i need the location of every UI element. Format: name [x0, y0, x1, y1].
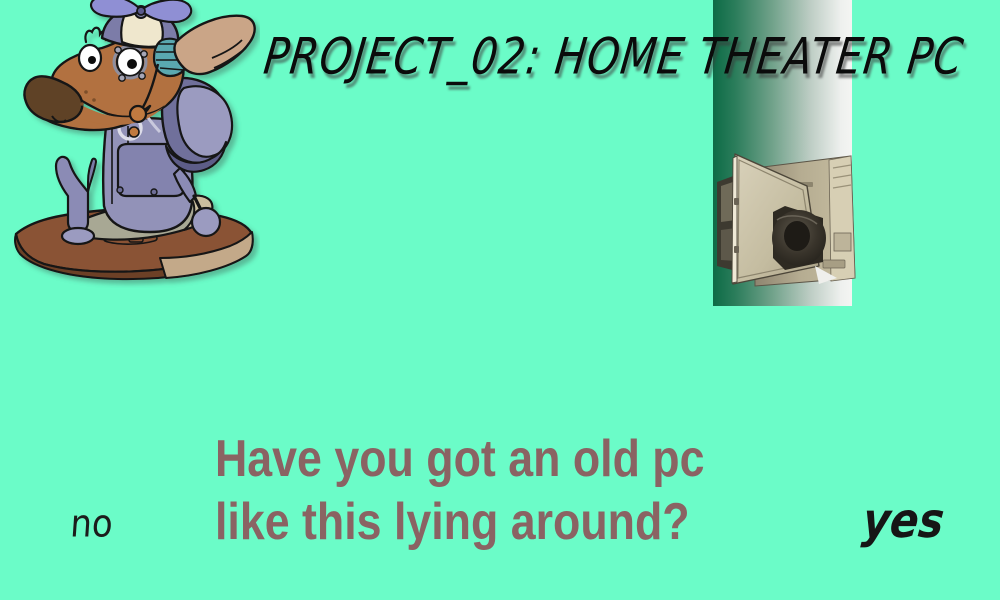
- pc-floppy-bay: [834, 233, 851, 251]
- mascot-monocle-screw-1: [115, 47, 121, 53]
- mascot-shoulder-bolt: [129, 127, 139, 137]
- pc-door-latch-bottom: [734, 246, 739, 253]
- mascot-pupil-right: [127, 59, 137, 69]
- mascot-freckle-1: [84, 90, 88, 94]
- pc-lower-vent: [823, 260, 845, 268]
- slide-canvas: PROJECT_02: HOME THEATER PC Have you got…: [0, 0, 1000, 600]
- pc-speaker-dustcap: [784, 221, 810, 251]
- mascot-monocle-screw-2: [141, 51, 147, 57]
- pc-door-hinge-edge: [732, 156, 737, 283]
- page-title: PROJECT_02: HOME THEATER PC: [261, 27, 984, 86]
- mascot-mic-ball: [130, 106, 146, 122]
- mascot-freckle-2: [92, 98, 96, 102]
- mascot-overalls-button-right: [151, 189, 157, 195]
- mascot-propeller-blade-left: [91, 0, 141, 17]
- question-line-2: like this lying around?: [215, 491, 765, 554]
- cartoon-dog-mascot: [8, 0, 260, 288]
- mascot-arm-glove: [174, 16, 254, 74]
- mascot-overalls-button-left: [117, 187, 123, 193]
- answer-yes[interactable]: yes: [860, 492, 947, 548]
- mascot-pupil-left: [88, 56, 96, 64]
- mascot-monocle-screw-3: [119, 75, 125, 81]
- mascot-foot-pad: [62, 228, 94, 244]
- mascot-backpack-ball: [192, 208, 220, 236]
- old-beige-pc-tower-photo: [711, 138, 859, 296]
- mascot-monocle-screw-4: [139, 73, 145, 79]
- mascot-freckle-3: [80, 102, 84, 106]
- mascot-propeller-hub: [137, 7, 145, 15]
- question-text: Have you got an old pc like this lying a…: [215, 428, 765, 554]
- mascot-leg-strut-fork: [88, 159, 96, 192]
- question-line-1: Have you got an old pc: [215, 428, 765, 491]
- answer-no[interactable]: no: [69, 502, 114, 547]
- pc-door-latch-top: [734, 198, 739, 205]
